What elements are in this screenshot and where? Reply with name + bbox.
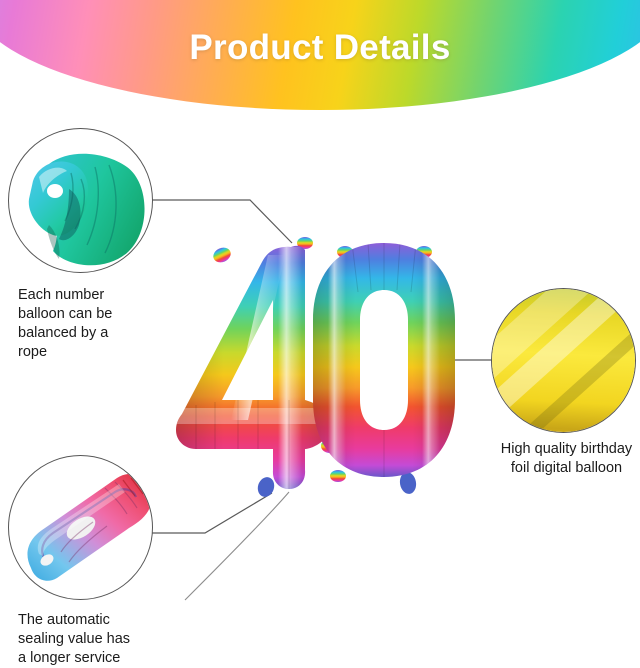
self-sealing-valve-closeup (9, 456, 153, 600)
page-title: Product Details (0, 28, 640, 68)
callout-foil-caption: High quality birthday foil digital ballo… (489, 440, 640, 478)
callout-foil-circle (491, 288, 636, 433)
digit-zero-balloon (313, 243, 455, 495)
rope-hole (47, 184, 63, 198)
balloon-string (185, 492, 289, 600)
balloon-rope-hole-closeup (9, 129, 153, 273)
callout-valve-caption: The automatic sealing value has a longer… (18, 611, 188, 668)
callout-rope-circle (8, 128, 153, 273)
callout-rope-caption: Each number balloon can be balanced by a… (18, 286, 168, 362)
callout-valve-circle (8, 455, 153, 600)
foil-surface-closeup (492, 289, 636, 433)
